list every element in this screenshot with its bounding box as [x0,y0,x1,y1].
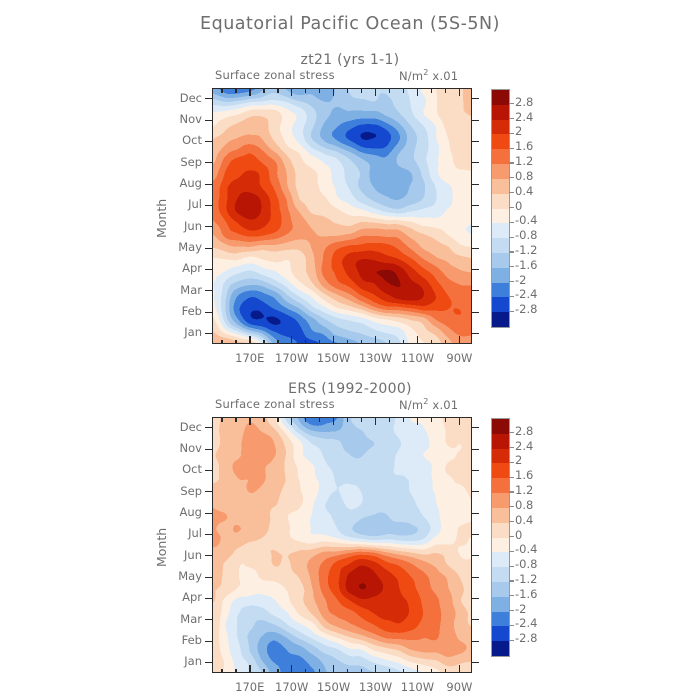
colorbar-swatch [492,567,509,582]
colorbar-tick-model-11 [509,266,514,267]
colorbar-tick-model-8 [509,222,514,223]
colorbar-swatch [492,552,509,567]
x-tick-model-170e [249,336,250,344]
y-tick-right-observations-sep [472,491,479,492]
colorbar-tick-model-9 [509,237,514,238]
x-minor-tick-model [277,340,278,345]
colorbar-label-observations-10: -1.2 [515,574,537,586]
x-minor-tick-top-observations [319,417,320,422]
colorbar-tick-observations-13 [509,625,514,626]
x-minor-tick-top-model [319,88,320,93]
colorbar-tick-observations-5 [509,506,514,507]
y-tick-right-observations-jun [472,555,479,556]
heatmap-surface-observations [213,418,472,673]
x-tick-label-model-130w: 130W [353,353,399,365]
colorbar-swatch [492,120,509,135]
colorbar-swatch [492,641,509,656]
colorbar-tick-observations-2 [509,462,514,463]
y-tick-observations-aug [205,513,212,514]
y-tick-right-observations-jul [472,534,479,535]
x-minor-tick-observations [221,669,222,674]
colorbar-label-observations-14: -2.8 [515,633,537,645]
colorbar-label-observations-9: -0.8 [515,559,537,571]
y-tick-observations-feb [205,641,212,642]
y-tick-model-aug [205,184,212,185]
x-minor-tick-top-observations [389,417,390,422]
colorbar-label-model-1: 2.4 [515,112,533,124]
y-tick-right-observations-nov [472,449,479,450]
y-tick-model-dec [205,98,212,99]
colorbar-swatch [492,582,509,597]
x-minor-tick-top-observations [403,417,404,422]
x-tick-label-observations-170e: 170E [227,682,273,694]
y-tick-model-may [205,248,212,249]
colorbar-swatch [492,238,509,253]
y-tick-observations-may [205,577,212,578]
x-tick-model-170w [291,336,292,344]
y-tick-label-model-dec: Dec [168,93,202,105]
y-tick-label-observations-dec: Dec [168,422,202,434]
x-tick-observations-90w [459,665,460,673]
y-axis-title-model: Month [154,199,169,238]
panel-title-model: zt21 (yrs 1-1) [0,52,700,68]
x-tick-model-130w [375,336,376,344]
colorbar-swatch [492,164,509,179]
colorbar-label-model-8: -0.4 [515,215,537,227]
y-tick-observations-sep [205,491,212,492]
x-minor-tick-observations [235,669,236,674]
y-tick-label-observations-mar: Mar [168,614,202,626]
colorbar-label-model-10: -1.2 [515,245,537,257]
colorbar-tick-model-4 [509,162,514,163]
x-minor-tick-observations [347,669,348,674]
x-tick-model-90w [459,336,460,344]
y-tick-label-model-jul: Jul [168,199,202,211]
x-tick-model-150w [333,336,334,344]
y-tick-observations-apr [205,598,212,599]
colorbar-tick-model-10 [509,251,514,252]
x-tick-observations-130w [375,665,376,673]
x-tick-label-model-170w: 170W [269,353,315,365]
colorbar-tick-model-5 [509,177,514,178]
x-minor-tick-top-model [431,88,432,93]
colorbar-label-model-5: 0.8 [515,171,533,183]
x-minor-tick-top-model [389,88,390,93]
x-minor-tick-top-model [235,88,236,93]
y-tick-right-model-jan [472,333,479,334]
colorbar-swatch [492,419,509,434]
x-minor-tick-top-observations [235,417,236,422]
y-tick-observations-nov [205,449,212,450]
heatmap-panel-observations [212,417,472,673]
y-tick-observations-oct [205,470,212,471]
y-tick-model-jan [205,333,212,334]
colorbar-label-observations-11: -1.6 [515,589,537,601]
x-minor-tick-top-model [445,88,446,93]
colorbar-swatch [492,223,509,238]
colorbar-swatch [492,463,509,478]
colorbar-swatch [492,449,509,464]
colorbar-label-model-2: 2 [515,126,522,138]
y-tick-right-model-jul [472,205,479,206]
x-tick-top-model-110w [417,88,418,96]
units-text: N/m [399,69,423,83]
units-label-observations: N/m2 x.01 [399,397,458,412]
y-tick-right-model-jun [472,226,479,227]
y-tick-right-observations-mar [472,619,479,620]
colorbar-tick-observations-11 [509,595,514,596]
colorbar-label-observations-12: -2 [515,604,526,616]
colorbar-label-model-4: 1.2 [515,156,533,168]
x-tick-top-observations-90w [459,417,460,425]
subtitle-left-observations: Surface zonal stress [215,397,335,411]
x-tick-top-observations-170e [249,417,250,425]
y-tick-right-model-may [472,248,479,249]
y-tick-right-model-aug [472,184,479,185]
x-minor-tick-observations [361,669,362,674]
colorbar-label-observations-5: 0.8 [515,500,533,512]
x-tick-label-model-90w: 90W [436,353,482,365]
colorbar-swatch [492,253,509,268]
y-tick-label-observations-apr: Apr [168,592,202,604]
y-tick-label-observations-nov: Nov [168,443,202,455]
x-tick-top-observations-150w [333,417,334,425]
colorbar-swatch [492,90,509,105]
colorbar-swatch [492,105,509,120]
y-tick-observations-jul [205,534,212,535]
figure-canvas: Equatorial Pacific Ocean (5S-5N) zt21 (y… [0,0,700,700]
x-minor-tick-model [403,340,404,345]
y-tick-right-model-mar [472,290,479,291]
x-tick-top-model-170w [291,88,292,96]
y-tick-model-nov [205,120,212,121]
x-tick-observations-150w [333,665,334,673]
colorbar-label-observations-0: 2.8 [515,426,533,438]
colorbar-tick-model-12 [509,281,514,282]
page-title: Equatorial Pacific Ocean (5S-5N) [0,14,700,34]
colorbar-swatch [492,612,509,627]
colorbar-swatch [492,268,509,283]
x-tick-top-model-90w [459,88,460,96]
x-tick-top-model-130w [375,88,376,96]
y-tick-model-jul [205,205,212,206]
colorbar-label-observations-1: 2.4 [515,441,533,453]
colorbar-tick-observations-12 [509,610,514,611]
y-tick-model-sep [205,162,212,163]
colorbar-swatch [492,179,509,194]
colorbar-label-model-13: -2.4 [515,289,537,301]
x-minor-tick-top-model [221,88,222,93]
colorbar-tick-model-7 [509,207,514,208]
heatmap-surface-model [213,89,472,344]
colorbar-label-model-0: 2.8 [515,97,533,109]
x-minor-tick-observations [403,669,404,674]
colorbar-swatch [492,297,509,312]
colorbar-label-observations-7: 0 [515,530,522,542]
y-tick-label-observations-jun: Jun [168,550,202,562]
y-tick-right-observations-jan [472,662,479,663]
colorbar-tick-model-13 [509,296,514,297]
y-tick-right-observations-feb [472,641,479,642]
colorbar-model [491,89,510,328]
colorbar-tick-observations-9 [509,566,514,567]
colorbar-swatch [492,283,509,298]
panel-title-observations: ERS (1992-2000) [0,381,700,397]
colorbar-tick-observations-4 [509,491,514,492]
y-tick-label-observations-may: May [168,571,202,583]
x-tick-top-observations-170w [291,417,292,425]
units-suffix: x.01 [429,69,459,83]
x-minor-tick-model [347,340,348,345]
colorbar-tick-observations-0 [509,432,514,433]
y-tick-right-model-apr [472,269,479,270]
y-tick-label-model-jan: Jan [168,327,202,339]
y-tick-right-model-dec [472,98,479,99]
y-tick-label-observations-jul: Jul [168,528,202,540]
x-minor-tick-top-observations [347,417,348,422]
colorbar-swatch [492,149,509,164]
y-tick-model-jun [205,226,212,227]
x-tick-observations-170e [249,665,250,673]
x-minor-tick-top-observations [445,417,446,422]
y-tick-label-model-apr: Apr [168,263,202,275]
colorbar-tick-model-6 [509,192,514,193]
y-tick-right-observations-oct [472,470,479,471]
y-tick-right-model-feb [472,312,479,313]
x-minor-tick-top-model [277,88,278,93]
y-tick-label-model-nov: Nov [168,114,202,126]
x-tick-label-observations-150w: 150W [311,682,357,694]
colorbar-swatch [492,508,509,523]
colorbar-label-model-9: -0.8 [515,230,537,242]
colorbar-swatch [492,134,509,149]
colorbar-swatch [492,194,509,209]
colorbar-label-model-6: 0.4 [515,186,533,198]
y-tick-label-observations-aug: Aug [168,507,202,519]
x-minor-tick-observations [389,669,390,674]
y-tick-observations-dec [205,427,212,428]
y-tick-right-model-sep [472,162,479,163]
colorbar-tick-model-0 [509,103,514,104]
colorbar-tick-observations-8 [509,551,514,552]
x-tick-model-110w [417,336,418,344]
y-tick-label-model-may: May [168,242,202,254]
y-tick-label-model-mar: Mar [168,285,202,297]
x-minor-tick-top-observations [277,417,278,422]
colorbar-tick-model-2 [509,133,514,134]
x-tick-observations-110w [417,665,418,673]
x-minor-tick-model [361,340,362,345]
x-tick-top-model-170e [249,88,250,96]
x-minor-tick-model [235,340,236,345]
colorbar-label-observations-8: -0.4 [515,544,537,556]
x-minor-tick-observations [263,669,264,674]
y-tick-label-model-feb: Feb [168,306,202,318]
colorbar-tick-model-1 [509,118,514,119]
y-tick-observations-jan [205,662,212,663]
x-minor-tick-model [305,340,306,345]
colorbar-label-model-12: -2 [515,275,526,287]
colorbar-observations [491,418,510,657]
x-minor-tick-top-observations [221,417,222,422]
colorbar-swatch [492,523,509,538]
colorbar-tick-observations-6 [509,521,514,522]
x-minor-tick-observations [305,669,306,674]
colorbar-tick-model-3 [509,148,514,149]
x-minor-tick-observations [431,669,432,674]
x-minor-tick-model [431,340,432,345]
x-tick-label-observations-170w: 170W [269,682,315,694]
x-minor-tick-model [445,340,446,345]
y-tick-right-observations-may [472,577,479,578]
x-minor-tick-observations [277,669,278,674]
colorbar-tick-observations-7 [509,536,514,537]
y-tick-label-observations-jan: Jan [168,656,202,668]
colorbar-swatch [492,312,509,327]
x-minor-tick-top-observations [305,417,306,422]
y-tick-right-observations-aug [472,513,479,514]
colorbar-label-observations-3: 1.6 [515,470,533,482]
colorbar-swatch [492,209,509,224]
y-tick-label-model-sep: Sep [168,157,202,169]
y-tick-right-model-nov [472,120,479,121]
colorbar-tick-model-14 [509,311,514,312]
x-tick-top-observations-110w [417,417,418,425]
x-minor-tick-top-model [305,88,306,93]
x-minor-tick-observations [445,669,446,674]
units-text: N/m [399,398,423,412]
y-tick-label-model-jun: Jun [168,221,202,233]
colorbar-label-observations-6: 0.4 [515,515,533,527]
colorbar-tick-observations-3 [509,477,514,478]
subtitle-left-model: Surface zonal stress [215,68,335,82]
y-axis-title-observations: Month [154,528,169,567]
colorbar-label-observations-13: -2.4 [515,618,537,630]
colorbar-swatch [492,626,509,641]
colorbar-tick-observations-14 [509,640,514,641]
colorbar-swatch [492,434,509,449]
colorbar-label-observations-4: 1.2 [515,485,533,497]
y-tick-model-oct [205,141,212,142]
x-tick-label-model-150w: 150W [311,353,357,365]
colorbar-label-model-14: -2.8 [515,304,537,316]
units-label-model: N/m2 x.01 [399,68,458,83]
x-tick-top-observations-130w [375,417,376,425]
x-minor-tick-top-model [403,88,404,93]
x-minor-tick-model [221,340,222,345]
y-tick-label-observations-oct: Oct [168,464,202,476]
colorbar-label-model-11: -1.6 [515,260,537,272]
y-tick-label-observations-feb: Feb [168,635,202,647]
y-tick-observations-mar [205,619,212,620]
heatmap-panel-model [212,88,472,344]
x-minor-tick-observations [319,669,320,674]
y-tick-label-model-oct: Oct [168,135,202,147]
colorbar-tick-observations-1 [509,447,514,448]
y-tick-model-apr [205,269,212,270]
x-minor-tick-top-model [361,88,362,93]
colorbar-label-observations-2: 2 [515,455,522,467]
x-minor-tick-model [389,340,390,345]
y-tick-right-observations-dec [472,427,479,428]
y-tick-model-feb [205,312,212,313]
colorbar-label-model-3: 1.6 [515,141,533,153]
x-minor-tick-top-observations [361,417,362,422]
colorbar-swatch [492,493,509,508]
x-tick-label-model-170e: 170E [227,353,273,365]
x-minor-tick-top-model [347,88,348,93]
colorbar-swatch [492,478,509,493]
y-tick-label-observations-sep: Sep [168,486,202,498]
x-tick-observations-170w [291,665,292,673]
colorbar-swatch [492,597,509,612]
x-tick-label-observations-90w: 90W [436,682,482,694]
x-tick-top-model-150w [333,88,334,96]
x-minor-tick-model [319,340,320,345]
x-minor-tick-top-observations [431,417,432,422]
y-tick-label-model-aug: Aug [168,178,202,190]
x-minor-tick-top-model [263,88,264,93]
y-tick-right-model-oct [472,141,479,142]
x-minor-tick-model [263,340,264,345]
y-tick-model-mar [205,290,212,291]
y-tick-observations-jun [205,555,212,556]
units-suffix: x.01 [429,398,459,412]
colorbar-swatch [492,538,509,553]
x-tick-label-observations-110w: 110W [394,682,440,694]
colorbar-label-model-7: 0 [515,201,522,213]
x-tick-label-model-110w: 110W [394,353,440,365]
x-minor-tick-top-observations [263,417,264,422]
y-tick-right-observations-apr [472,598,479,599]
x-tick-label-observations-130w: 130W [353,682,399,694]
colorbar-tick-observations-10 [509,580,514,581]
